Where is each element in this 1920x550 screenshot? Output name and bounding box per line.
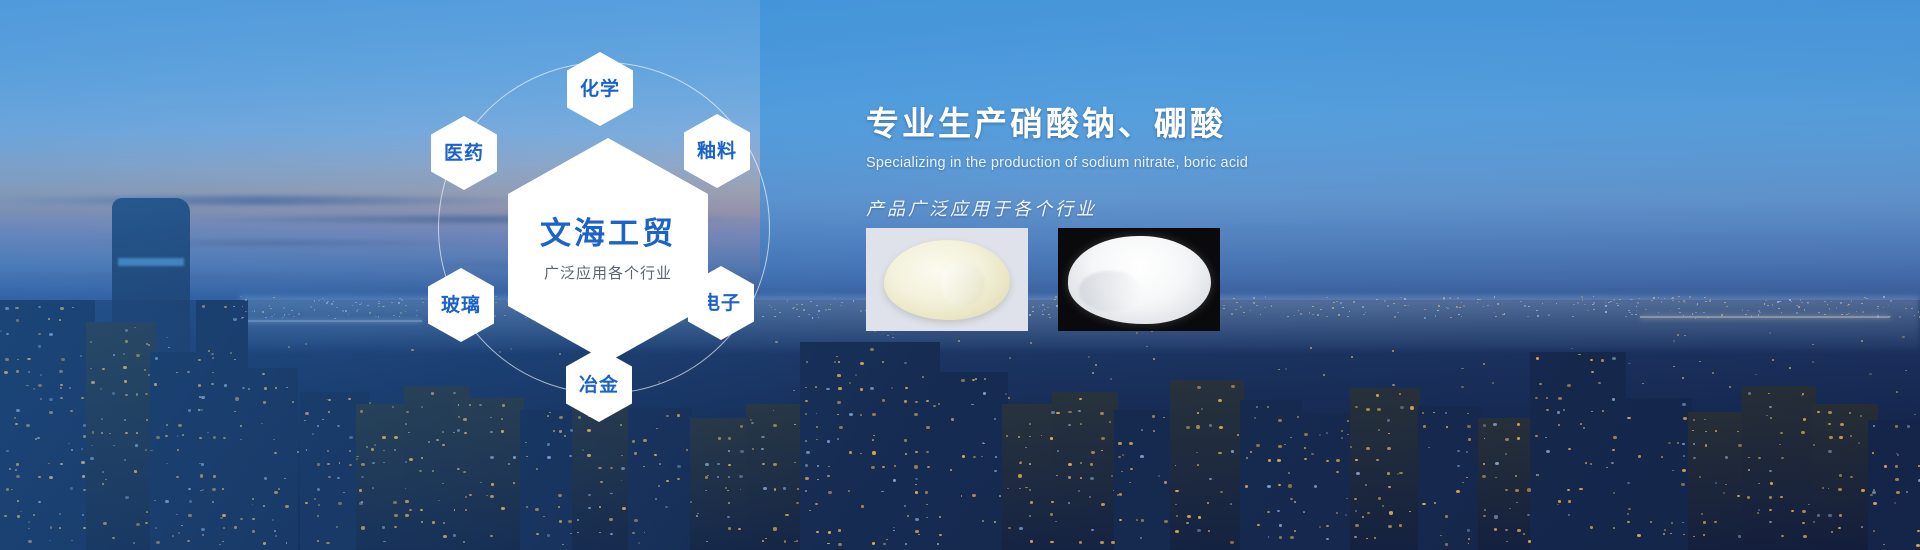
hex-label: 釉料 xyxy=(697,142,737,161)
product-photo-sodium-nitrate xyxy=(866,228,1028,331)
hex-label: 化学 xyxy=(580,80,620,99)
company-tagline: 广泛应用各个行业 xyxy=(544,262,672,283)
headline: 专业生产硝酸钠、硼酸 xyxy=(866,104,1566,144)
marketing-copy: 专业生产硝酸钠、硼酸 Specializing in the productio… xyxy=(866,104,1566,221)
subheadline-english: Specializing in the production of sodium… xyxy=(866,155,1566,171)
company-name: 文海工贸 xyxy=(540,217,676,251)
industry-hex-diagram: 化学 釉料 医药 电子 玻璃 冶金 文海工贸 广泛应用各个行业 xyxy=(420,18,820,458)
hex-label: 冶金 xyxy=(579,376,619,395)
powder-pile xyxy=(884,240,1010,320)
hex-label: 医药 xyxy=(444,144,484,163)
powder-pile xyxy=(1068,236,1211,324)
promo-banner: 化学 釉料 医药 电子 玻璃 冶金 文海工贸 广泛应用各个行业 专业生产硝酸钠、… xyxy=(0,0,1920,550)
product-photos xyxy=(866,228,1220,331)
tagline: 产品广泛应用于各个行业 xyxy=(866,195,1566,221)
product-photo-boric-acid xyxy=(1058,228,1220,331)
hex-label: 玻璃 xyxy=(441,296,481,315)
